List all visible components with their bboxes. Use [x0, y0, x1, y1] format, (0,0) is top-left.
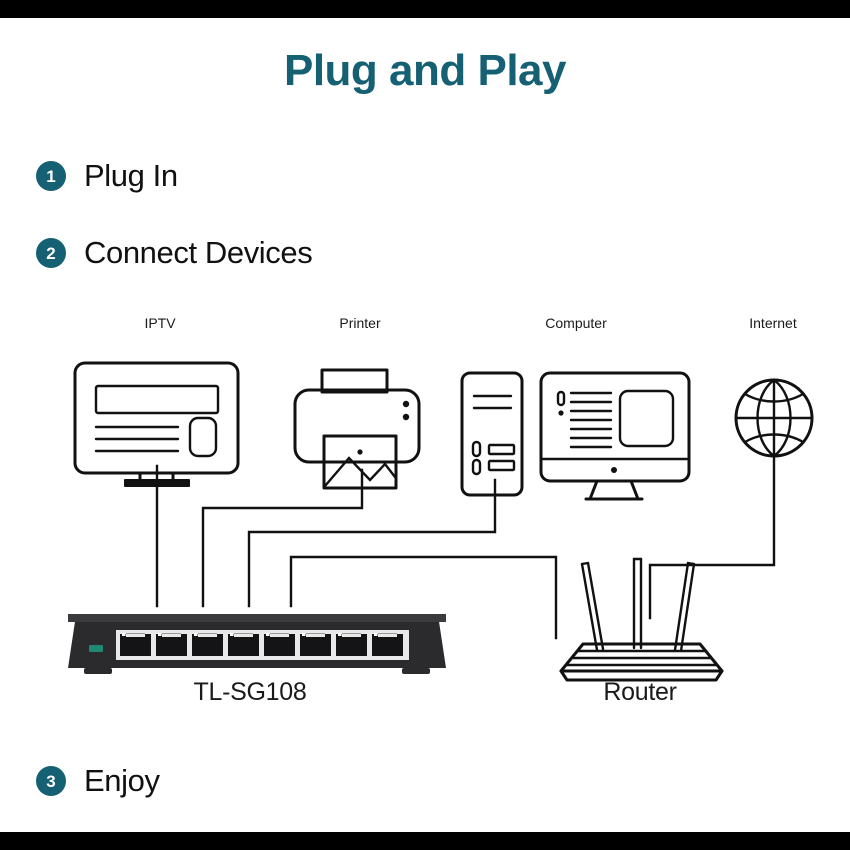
switch-status-led	[89, 645, 103, 652]
router-antenna-center	[634, 559, 641, 648]
device-router	[561, 559, 722, 680]
router-antenna-right	[675, 563, 694, 651]
device-internet-globe	[736, 380, 812, 456]
router-antenna-left	[582, 563, 603, 650]
device-switch	[68, 614, 446, 674]
device-printer	[295, 370, 419, 488]
bottom-black-band	[0, 832, 850, 850]
cable-printer-to-switch	[203, 470, 362, 606]
cable-tower-to-switch	[249, 480, 495, 606]
device-computer-tower	[462, 373, 522, 495]
network-diagram	[0, 18, 850, 832]
device-monitor	[541, 373, 689, 499]
page-content: Plug and Play 1 Plug In 2 Connect Device…	[0, 18, 850, 832]
top-black-band	[0, 0, 850, 18]
